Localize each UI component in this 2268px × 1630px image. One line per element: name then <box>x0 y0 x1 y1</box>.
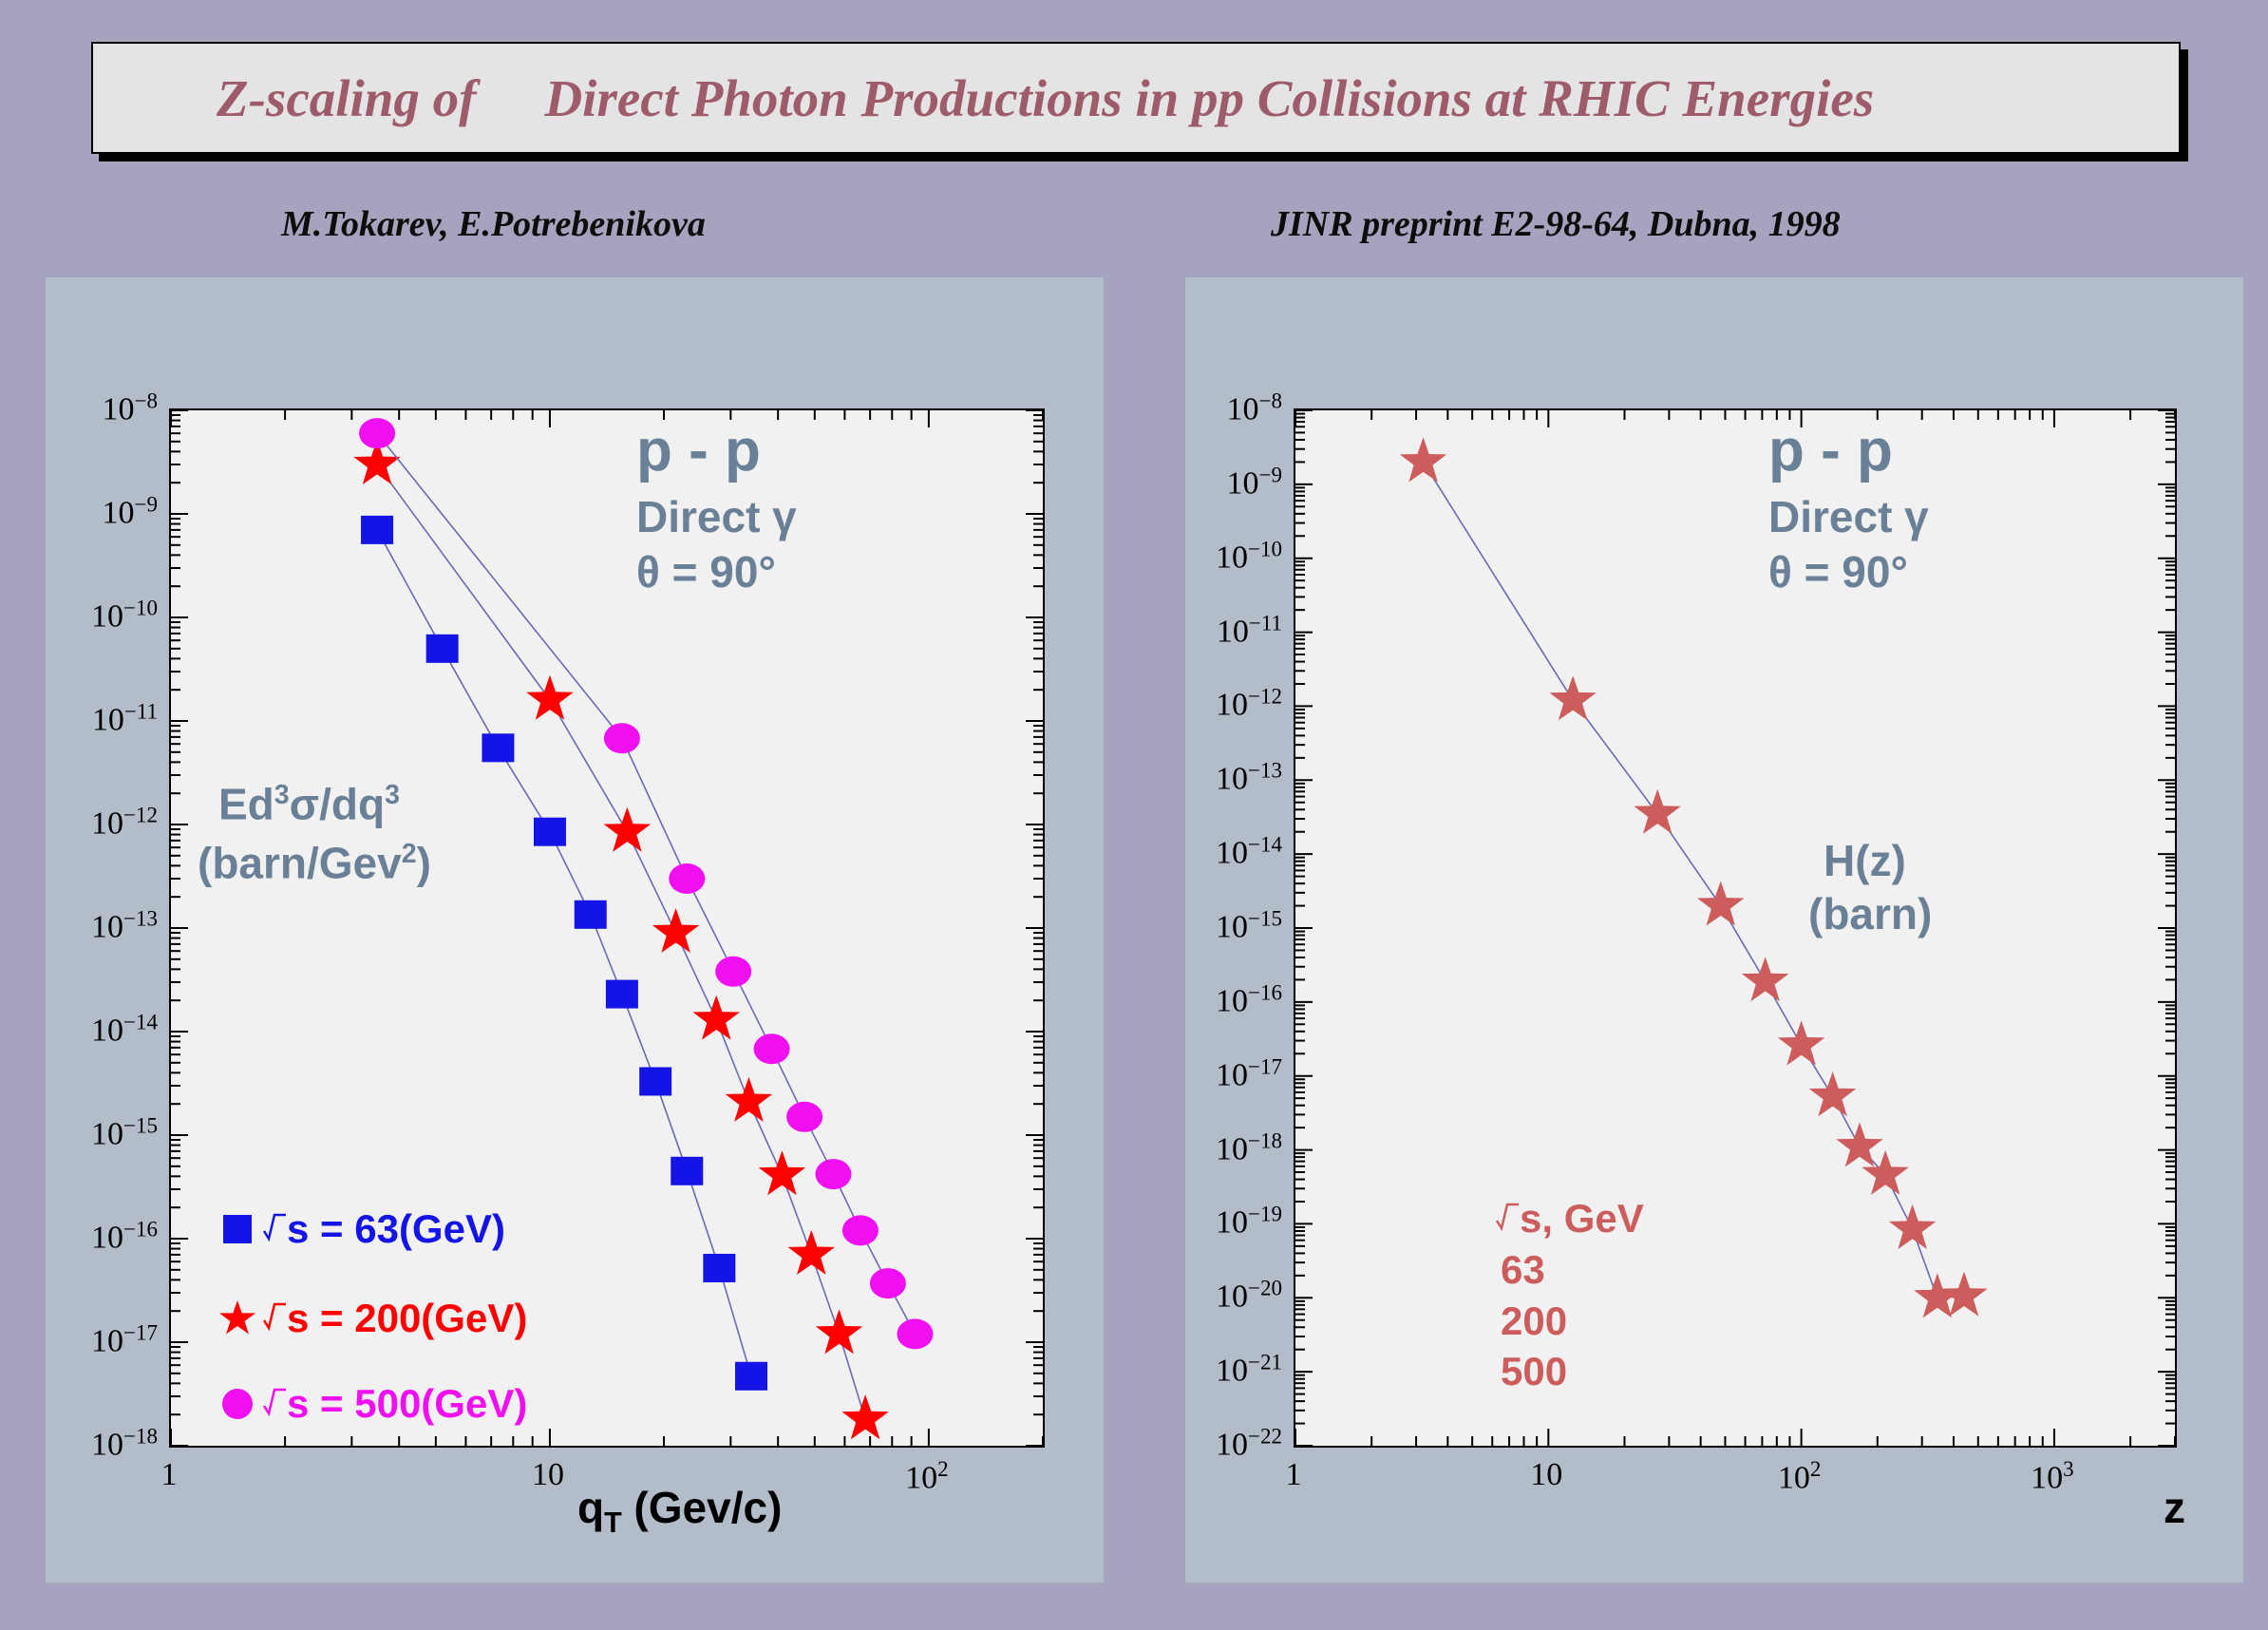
right-anno-direct-gamma: Direct γ <box>1768 494 1929 541</box>
legend-item-63[interactable]: s = 63(GeV) <box>213 1206 505 1252</box>
data-point-marker <box>671 1157 703 1185</box>
left-plot-panel: p - p Direct γ θ = 90° Ed3σ/dq3 (barn/Ge… <box>46 277 1104 1583</box>
right-legend-header: s, GeV <box>1495 1193 1644 1244</box>
data-point-marker <box>526 675 573 720</box>
left-anno-direct-gamma: Direct γ <box>636 494 797 541</box>
right-legend-block: s, GeV 63 200 500 <box>1495 1193 1644 1397</box>
legend-label-500: s = 500(GeV) <box>287 1381 527 1427</box>
right-anno-theta: θ = 90° <box>1768 549 1908 597</box>
sqrt-icon-red <box>262 1298 287 1339</box>
y-tick-label: 10−10 <box>1216 537 1282 576</box>
left-ylabel-paren: ) <box>417 838 431 887</box>
left-plot-canvas <box>171 410 1043 1446</box>
right-legend-value-200: 200 <box>1501 1296 1644 1347</box>
x-tick-label: 102 <box>905 1457 949 1496</box>
data-point-marker <box>842 1215 879 1245</box>
authors-line: M.Tokarev, E.Potrebenikova <box>281 203 706 245</box>
data-point-marker <box>759 1150 805 1195</box>
title-text-part2: Direct Photon Productions in pp Collisio… <box>544 68 1874 128</box>
data-point-marker <box>534 818 566 846</box>
y-tick-label: 10−13 <box>91 906 158 945</box>
data-point-marker <box>482 733 514 762</box>
legend-label-63: s = 63(GeV) <box>287 1206 505 1252</box>
legend-star-marker-icon <box>213 1298 262 1338</box>
x-tick-label: 1 <box>161 1457 178 1493</box>
left-xaxis-q: q <box>577 1483 604 1532</box>
y-tick-label: 10−16 <box>1216 980 1282 1019</box>
right-xaxis-title: z <box>2164 1482 2185 1533</box>
legend-item-200[interactable]: s = 200(GeV) <box>213 1296 527 1341</box>
left-xaxis-sub-T: T <box>604 1507 622 1539</box>
y-tick-label: 10−17 <box>91 1320 158 1359</box>
title-text-part1: Z-scaling of <box>217 68 476 128</box>
legend-label-200: s = 200(GeV) <box>287 1296 527 1341</box>
left-ylabel-sigma-dq: σ/dq <box>290 779 385 828</box>
data-point-marker <box>1400 437 1446 482</box>
y-tick-label: 10−21 <box>1216 1350 1282 1389</box>
left-plot-frame: p - p Direct γ θ = 90° Ed3σ/dq3 (barn/Ge… <box>169 408 1045 1448</box>
left-ylabel-sup2: 3 <box>385 780 400 810</box>
data-point-marker <box>359 418 395 448</box>
y-tick-label: 10−14 <box>1216 832 1282 871</box>
left-ylabel-sup1: 3 <box>274 780 290 810</box>
left-xaxis-units: (Gev/c) <box>622 1483 783 1532</box>
y-tick-label: 10−16 <box>91 1217 158 1256</box>
data-point-marker <box>669 863 705 894</box>
x-tick-label: 103 <box>2031 1457 2074 1496</box>
data-point-marker <box>841 1394 888 1439</box>
left-ylabel-line1: Ed3σ/dq3 <box>218 781 400 828</box>
data-point-marker <box>815 1159 851 1189</box>
right-legend-value-500: 500 <box>1501 1346 1644 1397</box>
sqrt-icon-blue <box>262 1208 287 1250</box>
y-tick-label: 10−22 <box>1216 1424 1282 1463</box>
y-tick-label: 10−9 <box>1227 463 1282 502</box>
data-point-marker <box>754 1033 790 1064</box>
data-point-marker <box>1778 1020 1824 1065</box>
left-anno-pp: p - p <box>636 420 761 483</box>
y-tick-label: 10−12 <box>91 803 158 842</box>
data-point-marker <box>1809 1071 1856 1116</box>
legend-square-marker-icon <box>213 1215 262 1243</box>
left-ylabel-line2: (barn/Gev2) <box>198 840 431 887</box>
data-point-marker <box>1742 957 1788 1001</box>
data-point-marker <box>786 1102 822 1132</box>
right-ylabel-hz: H(z) <box>1824 838 1906 885</box>
preprint-reference: JINR preprint E2-98-64, Dubna, 1998 <box>1271 203 1841 245</box>
data-point-marker <box>816 1309 862 1354</box>
y-tick-label: 10−20 <box>1216 1277 1282 1316</box>
data-point-marker <box>726 1077 772 1122</box>
right-plot-panel: p - p Direct γ θ = 90° H(z) (barn) s, Ge… <box>1185 277 2243 1583</box>
data-point-marker <box>604 723 640 753</box>
legend-item-500[interactable]: s = 500(GeV) <box>213 1381 527 1427</box>
data-point-marker <box>426 635 459 663</box>
data-point-marker <box>735 1362 767 1391</box>
y-tick-label: 10−11 <box>1217 611 1282 650</box>
data-point-marker <box>1549 675 1596 720</box>
y-tick-label: 10−13 <box>1216 759 1282 798</box>
right-ylabel-barn: (barn) <box>1808 891 1932 938</box>
left-anno-theta: θ = 90° <box>636 549 776 597</box>
legend-circle-marker-icon <box>213 1389 262 1419</box>
y-tick-label: 10−10 <box>91 596 158 635</box>
right-plot-frame: p - p Direct γ θ = 90° H(z) (barn) s, Ge… <box>1294 408 2177 1448</box>
data-point-marker <box>1889 1204 1936 1249</box>
y-tick-label: 10−14 <box>91 1010 158 1049</box>
data-point-marker <box>703 1254 735 1282</box>
left-ylabel-ed: Ed <box>218 779 274 828</box>
sqrt-icon-salmon <box>1495 1198 1520 1240</box>
y-tick-label: 10−15 <box>1216 906 1282 945</box>
y-tick-label: 10−12 <box>1216 685 1282 724</box>
data-point-marker <box>693 995 740 1040</box>
right-anno-pp: p - p <box>1768 420 1893 483</box>
data-point-marker <box>715 957 751 987</box>
y-tick-label: 10−8 <box>103 389 158 427</box>
y-tick-label: 10−19 <box>1216 1203 1282 1241</box>
data-point-marker <box>361 516 393 544</box>
data-point-marker <box>606 980 638 1009</box>
x-tick-label: 1 <box>1286 1457 1302 1493</box>
right-plot-canvas <box>1295 410 2175 1446</box>
left-ylabel-sup3: 2 <box>402 839 417 869</box>
y-tick-label: 10−18 <box>1216 1128 1282 1167</box>
data-point-marker <box>1836 1122 1882 1166</box>
y-tick-label: 10−18 <box>91 1424 158 1463</box>
data-point-marker <box>575 900 607 929</box>
data-point-marker <box>897 1318 933 1349</box>
data-point-marker <box>639 1067 671 1095</box>
left-ylabel-barn: (barn/Gev <box>198 838 402 887</box>
left-xaxis-title: qT (Gev/c) <box>577 1482 782 1540</box>
y-tick-label: 10−8 <box>1227 389 1282 427</box>
x-tick-label: 102 <box>1778 1457 1822 1496</box>
data-point-marker <box>652 908 699 953</box>
y-tick-label: 10−9 <box>103 492 158 531</box>
data-point-marker <box>870 1268 906 1298</box>
data-point-marker <box>604 807 651 852</box>
data-point-marker <box>1697 881 1744 926</box>
sqrt-icon-magenta <box>262 1383 287 1425</box>
right-legend-value-63: 63 <box>1501 1244 1644 1296</box>
slide-title-box: Z-scaling of Direct Photon Productions i… <box>91 42 2181 154</box>
y-tick-label: 10−11 <box>92 699 158 738</box>
y-tick-label: 10−15 <box>91 1113 158 1152</box>
data-point-marker <box>1634 789 1680 834</box>
right-legend-label-sqrt-s: s, GeV <box>1520 1193 1644 1244</box>
y-tick-label: 10−17 <box>1216 1054 1282 1093</box>
x-tick-label: 10 <box>1530 1457 1562 1493</box>
x-tick-label: 10 <box>532 1457 564 1493</box>
data-point-marker <box>788 1230 835 1275</box>
